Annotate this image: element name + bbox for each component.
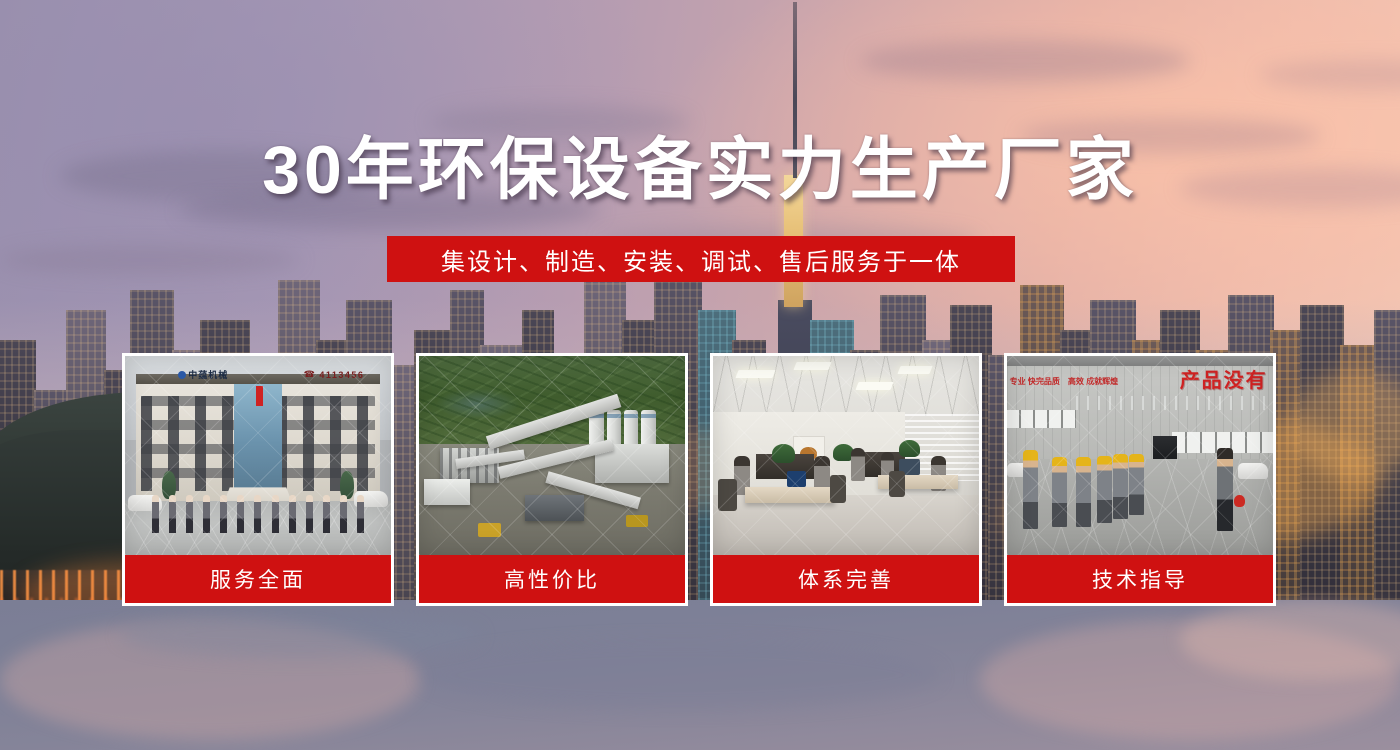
parked-car: [1238, 463, 1267, 479]
card-caption: 体系完善: [713, 555, 979, 603]
excavator: [626, 515, 647, 527]
worker: [1129, 454, 1144, 516]
potted-plant: [772, 444, 796, 464]
card-caption-text: 技术指导: [1092, 564, 1188, 594]
building-sign-text: 中蕴机械: [188, 368, 228, 381]
excavator: [478, 523, 502, 537]
company-logo-icon: [178, 371, 186, 379]
card-photo-workers: 专业 快完品质 高效 成就辉煌 产品没有: [1007, 356, 1273, 555]
building-phone: ☎ 4113456: [279, 369, 364, 381]
monitor: [787, 471, 806, 487]
wall-slogans: 专业 快完品质 高效 成就辉煌: [1010, 368, 1138, 396]
feature-card-row: 中蕴机械 ☎ 4113456 服务全面: [122, 353, 1278, 606]
card-caption-text: 体系完善: [798, 564, 894, 594]
card-photo-plant-aerial: [419, 356, 685, 555]
feature-card[interactable]: 中蕴机械 ☎ 4113456 服务全面: [122, 353, 394, 606]
feature-card[interactable]: 专业 快完品质 高效 成就辉煌 产品没有: [1004, 353, 1276, 606]
card-caption: 技术指导: [1007, 555, 1273, 603]
supervisor: [1217, 448, 1233, 532]
hero-banner: 30年环保设备实力生产厂家 集设计、制造、安装、调试、售后服务于一体 中蕴机械: [0, 0, 1400, 750]
building-sign: 中蕴机械: [178, 369, 263, 381]
hero-headline: 30年环保设备实力生产厂家: [0, 136, 1400, 204]
red-helmet: [1234, 495, 1245, 507]
wall-headline-text: 产品没有: [1145, 362, 1267, 396]
worker: [1023, 450, 1038, 530]
card-photo-headquarters: 中蕴机械 ☎ 4113456: [125, 356, 391, 555]
card-caption-text: 高性价比: [504, 564, 600, 594]
wall-slogan-1: 专业 快完品质: [1010, 377, 1060, 386]
subtitle-text: 集设计、制造、安装、调试、售后服务于一体: [441, 242, 961, 277]
potted-plant: [899, 440, 920, 458]
card-caption: 服务全面: [125, 555, 391, 603]
water-reflection: [420, 640, 940, 710]
subtitle-banner: 集设计、制造、安装、调试、售后服务于一体: [387, 236, 1015, 282]
worker: [1076, 457, 1091, 527]
feature-card[interactable]: 体系完善: [710, 353, 982, 606]
flag-icon: [256, 386, 262, 406]
building-phone-text: 4113456: [319, 370, 364, 380]
phone-icon: ☎: [304, 369, 317, 380]
worker: [1113, 454, 1128, 520]
worker: [1097, 456, 1112, 524]
staff-lineup: [152, 495, 365, 533]
worker: [1052, 457, 1067, 527]
card-caption-text: 服务全面: [210, 564, 306, 594]
card-caption: 高性价比: [419, 555, 685, 603]
feature-card[interactable]: 高性价比: [416, 353, 688, 606]
card-photo-office: [713, 356, 979, 555]
wall-slogan-2: 高效 成就辉煌: [1068, 377, 1118, 386]
water-reflection: [120, 612, 480, 658]
